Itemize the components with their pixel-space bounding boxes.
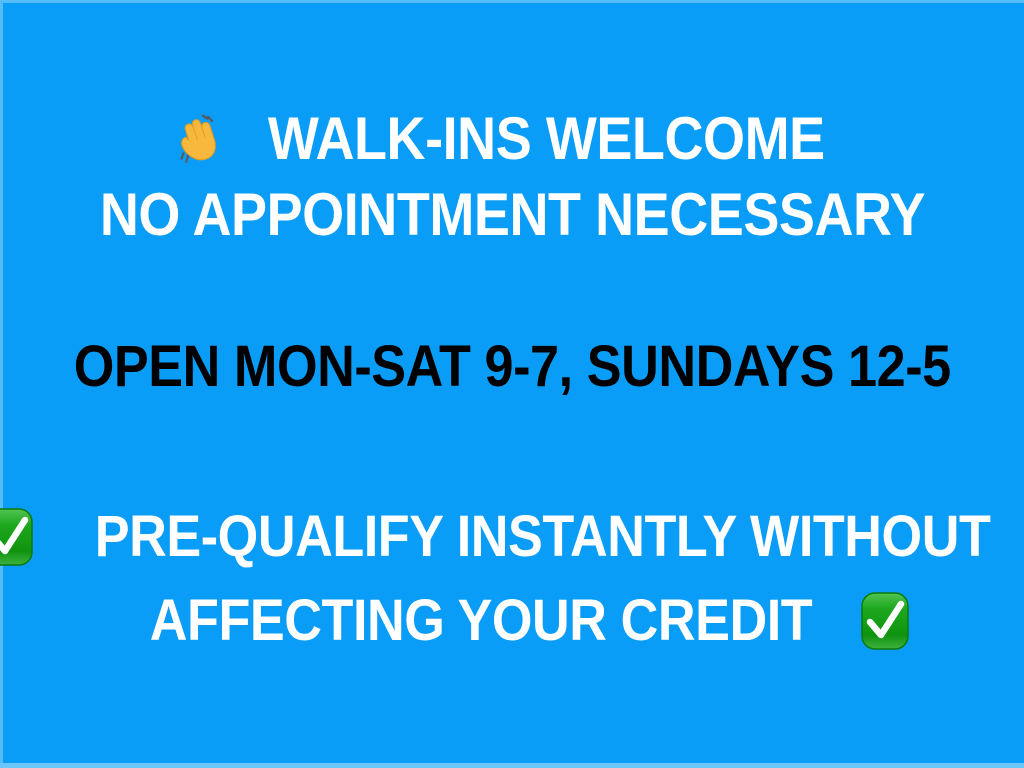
prequalify-line: PRE-QUALIFY INSTANTLY WITHOUT	[0, 502, 1024, 572]
white-check-mark-icon	[859, 591, 911, 651]
headline-no-appointment-text: NO APPOINTMENT NECESSARY	[99, 184, 924, 246]
store-hours: OPEN MON-SAT 9-7, SUNDAYS 12-5	[0, 332, 1024, 402]
waving-hand-icon	[169, 110, 227, 168]
sign-content: WALK-INS WELCOME NO APPOINTMENT NECESSAR…	[0, 0, 1024, 768]
prequalify-line-text: PRE-QUALIFY INSTANTLY WITHOUT	[95, 507, 991, 567]
promo-sign: WALK-INS WELCOME NO APPOINTMENT NECESSAR…	[0, 0, 1024, 768]
headline-no-appointment: NO APPOINTMENT NECESSARY	[0, 180, 1024, 250]
white-check-mark-icon	[0, 507, 35, 567]
store-hours-text: OPEN MON-SAT 9-7, SUNDAYS 12-5	[73, 337, 950, 397]
headline-walk-ins: WALK-INS WELCOME	[0, 104, 1024, 174]
headline-walk-ins-text: WALK-INS WELCOME	[268, 108, 825, 170]
credit-line-text: AFFECTING YOUR CREDIT	[150, 591, 812, 651]
credit-line: AFFECTING YOUR CREDIT	[0, 586, 1024, 656]
